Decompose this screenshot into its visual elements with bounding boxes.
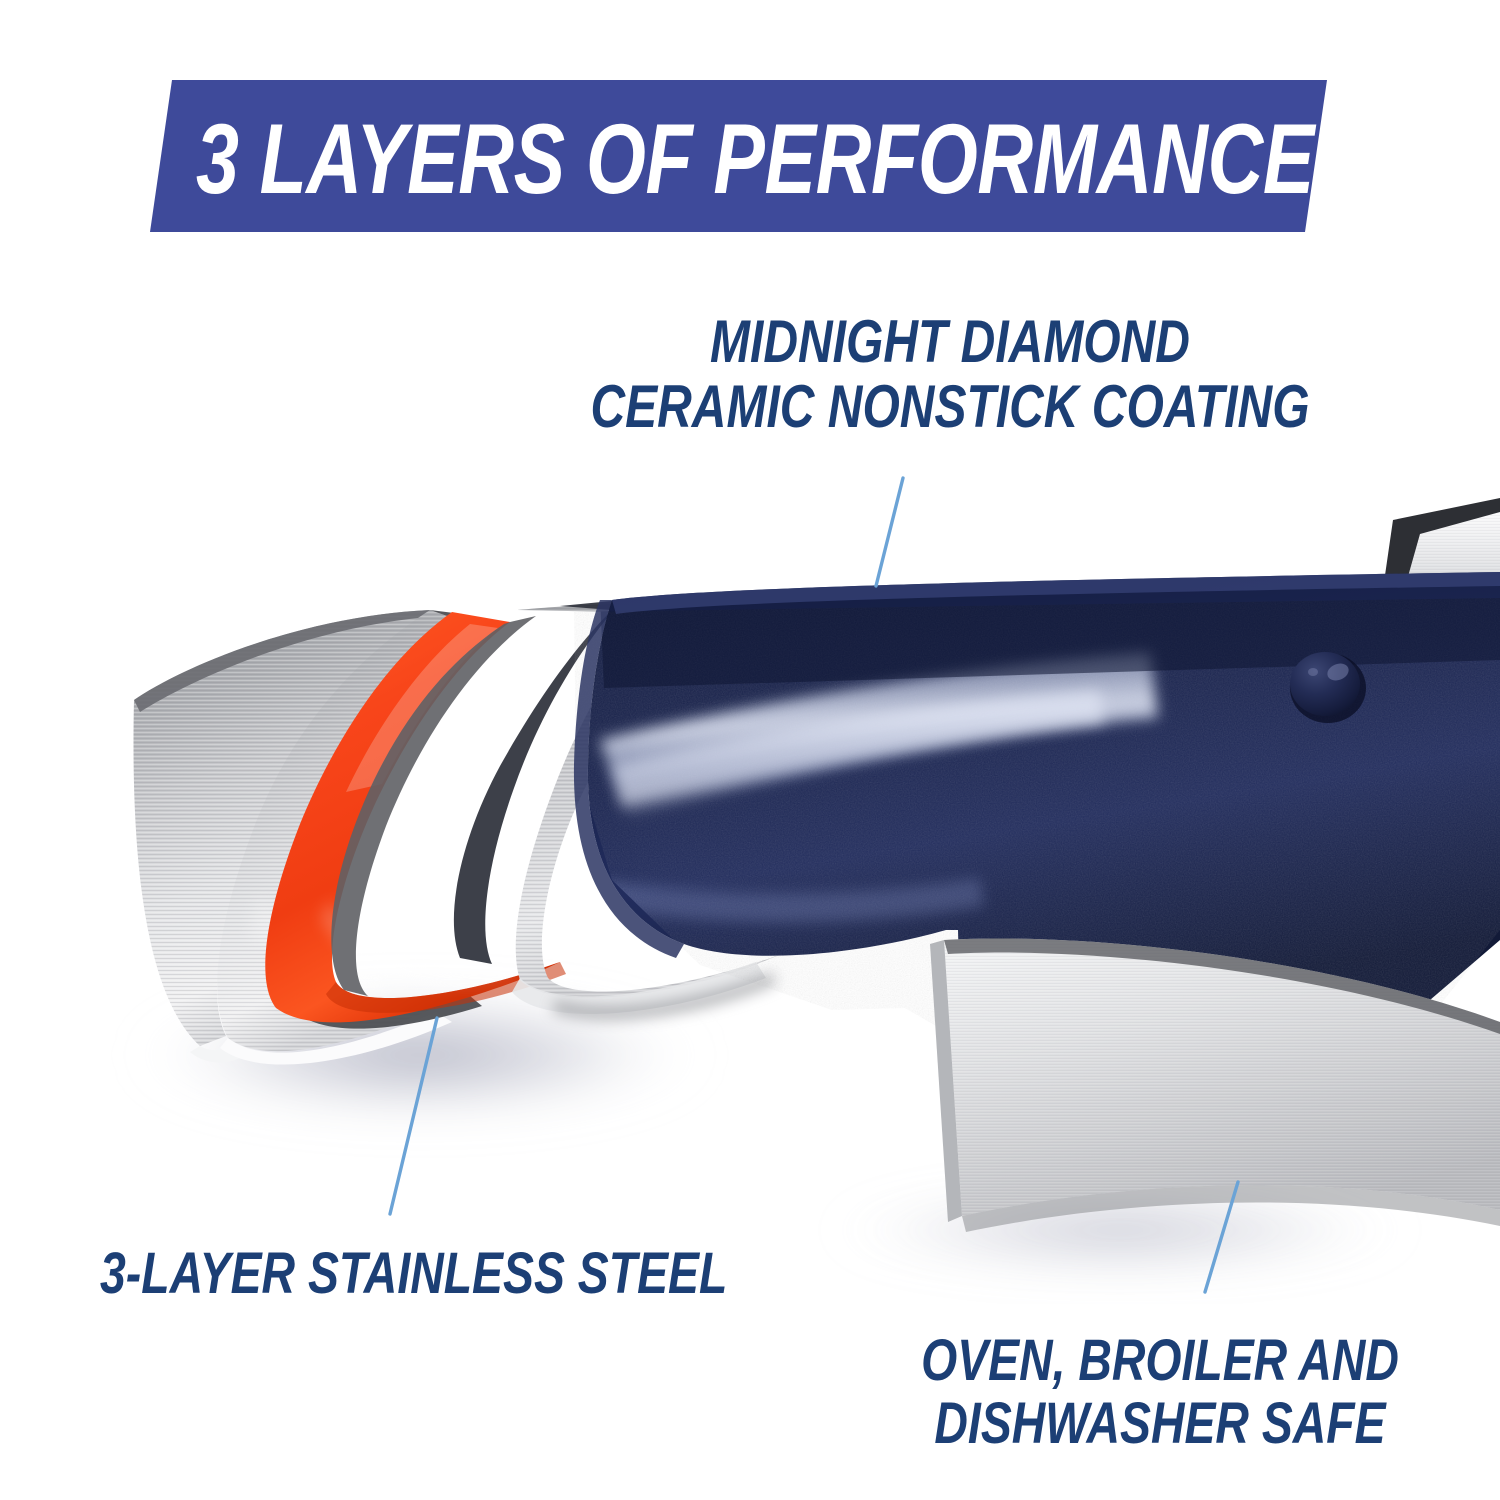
callout-steel-line-1: 3-LAYER STAINLESS STEEL xyxy=(100,1243,727,1306)
callout-safe-line-1: OVEN, BROILER AND xyxy=(904,1330,1416,1393)
infographic-canvas: 3 LAYERS OF PERFORMANCE MIDNIGHT DIAMOND… xyxy=(0,0,1500,1500)
callout-safe-line-2: DISHWASHER SAFE xyxy=(904,1393,1416,1456)
page-title: 3 LAYERS OF PERFORMANCE xyxy=(196,88,1070,228)
callout-coating-line-1: MIDNIGHT DIAMOND xyxy=(542,310,1358,375)
leader-line-coating xyxy=(876,478,903,586)
title-banner: 3 LAYERS OF PERFORMANCE xyxy=(0,0,1500,260)
callout-label-oven-safe: OVEN, BROILER AND DISHWASHER SAFE xyxy=(840,1330,1480,1455)
callout-label-coating: MIDNIGHT DIAMOND CERAMIC NONSTICK COATIN… xyxy=(440,310,1460,440)
callout-coating-line-2: CERAMIC NONSTICK COATING xyxy=(542,375,1358,440)
callout-label-stainless-steel: 3-LAYER STAINLESS STEEL xyxy=(100,1243,884,1306)
